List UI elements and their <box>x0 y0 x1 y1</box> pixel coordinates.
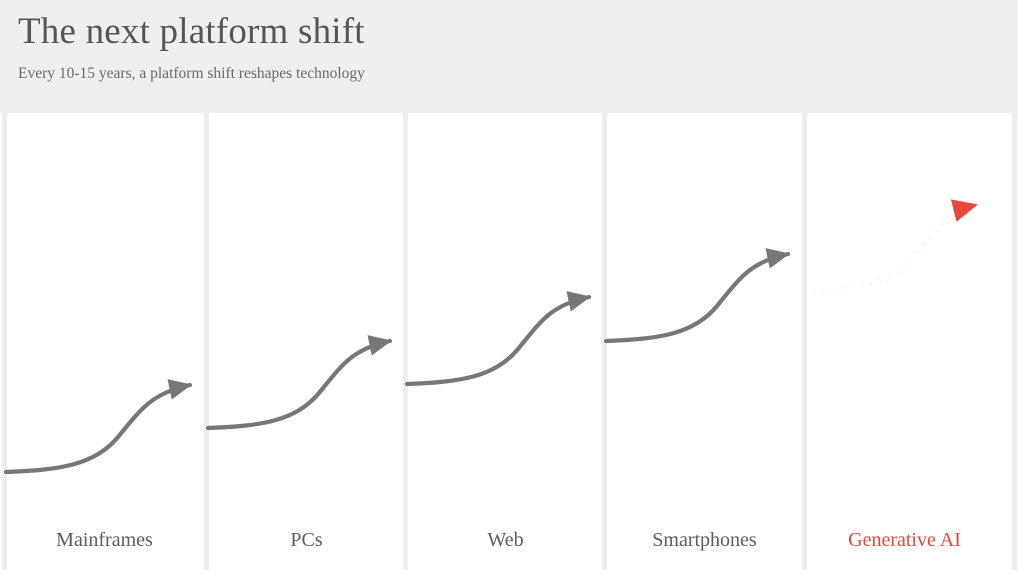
stage-label-web: Web <box>406 528 605 552</box>
curve-generative-ai <box>805 205 976 291</box>
stage-label-pcs: PCs <box>207 528 406 552</box>
stage-label-mainframes: Mainframes <box>5 528 204 552</box>
page-subtitle: Every 10-15 years, a platform shift resh… <box>18 64 1018 84</box>
curve-pcs <box>208 341 390 428</box>
curve-smartphones <box>606 254 788 341</box>
slide-header: The next platform shift Every 10-15 year… <box>0 0 1018 113</box>
stage-label-smartphones: Smartphones <box>605 528 804 552</box>
stage-label-generative-ai: Generative AI <box>805 528 1004 552</box>
platform-shift-slide: The next platform shift Every 10-15 year… <box>0 0 1018 570</box>
s-curve-chart <box>0 113 1018 570</box>
chart-area: Mainframes PCs Web Smartphones Generativ… <box>0 113 1018 570</box>
column-dividers <box>5 113 1015 570</box>
page-title: The next platform shift <box>18 10 1018 54</box>
curve-web <box>407 297 589 384</box>
curve-mainframes <box>6 385 190 472</box>
